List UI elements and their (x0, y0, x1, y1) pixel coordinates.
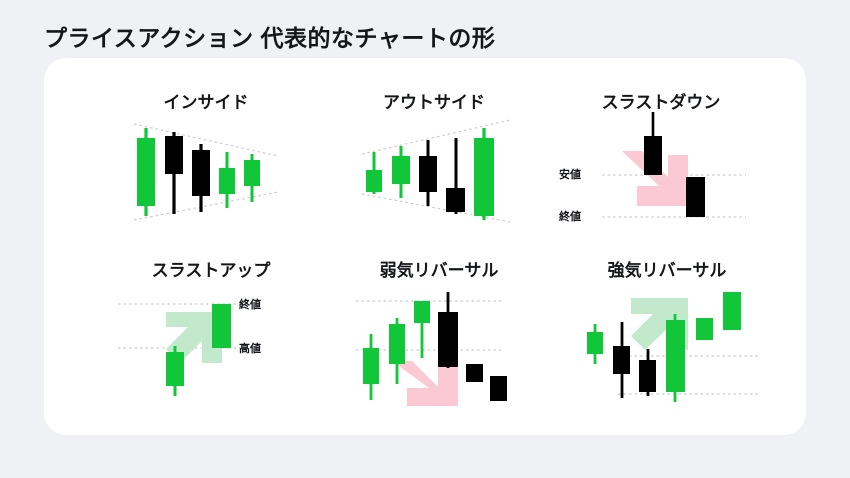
candle (366, 152, 382, 194)
candle (166, 346, 184, 396)
panel-bullish-reversal: 強気リバーサル (562, 256, 772, 406)
label-low: 安値 (559, 166, 581, 182)
label-close: 終値 (239, 296, 261, 312)
candle (419, 140, 437, 206)
candle (219, 152, 235, 208)
candle (666, 314, 685, 402)
candle (438, 292, 458, 368)
candle (165, 132, 183, 214)
candle (474, 128, 494, 220)
candle (446, 138, 465, 214)
candle-series-outside (366, 128, 494, 220)
panel-bearish-reversal: 弱気リバーサル (334, 256, 544, 406)
candle (587, 324, 603, 364)
candle (363, 334, 379, 400)
label-close: 終値 (559, 208, 581, 224)
candle (696, 318, 713, 340)
panel-thrust-down: スラストダウン 安値 終値 (556, 88, 766, 233)
content-card: インサイド アウトサイド (44, 58, 806, 435)
candle (644, 112, 662, 175)
candle (613, 322, 630, 398)
candle (389, 318, 405, 384)
page-title: プライスアクション 代表的なチャートの形 (44, 19, 495, 53)
panel-thrust-up: スラストアップ 終値 高値 (106, 256, 316, 406)
candle (192, 144, 210, 212)
candle (490, 376, 507, 401)
panel-outside: アウトサイド (334, 88, 534, 228)
candle (466, 364, 483, 382)
chart-bullish-reversal (562, 256, 772, 406)
panel-inside: インサイド (106, 88, 306, 228)
candle (212, 304, 231, 348)
candle (244, 154, 260, 202)
chart-bearish-reversal (334, 256, 544, 406)
chart-thrust-up (106, 256, 316, 406)
chart-inside (106, 88, 306, 228)
candle (137, 128, 155, 216)
chart-thrust-down (556, 88, 766, 233)
candle (723, 292, 741, 330)
candle (686, 177, 705, 217)
chart-outside (334, 88, 534, 228)
label-high: 高値 (239, 340, 261, 356)
candle-series-inside (137, 128, 260, 216)
candle (392, 146, 410, 198)
